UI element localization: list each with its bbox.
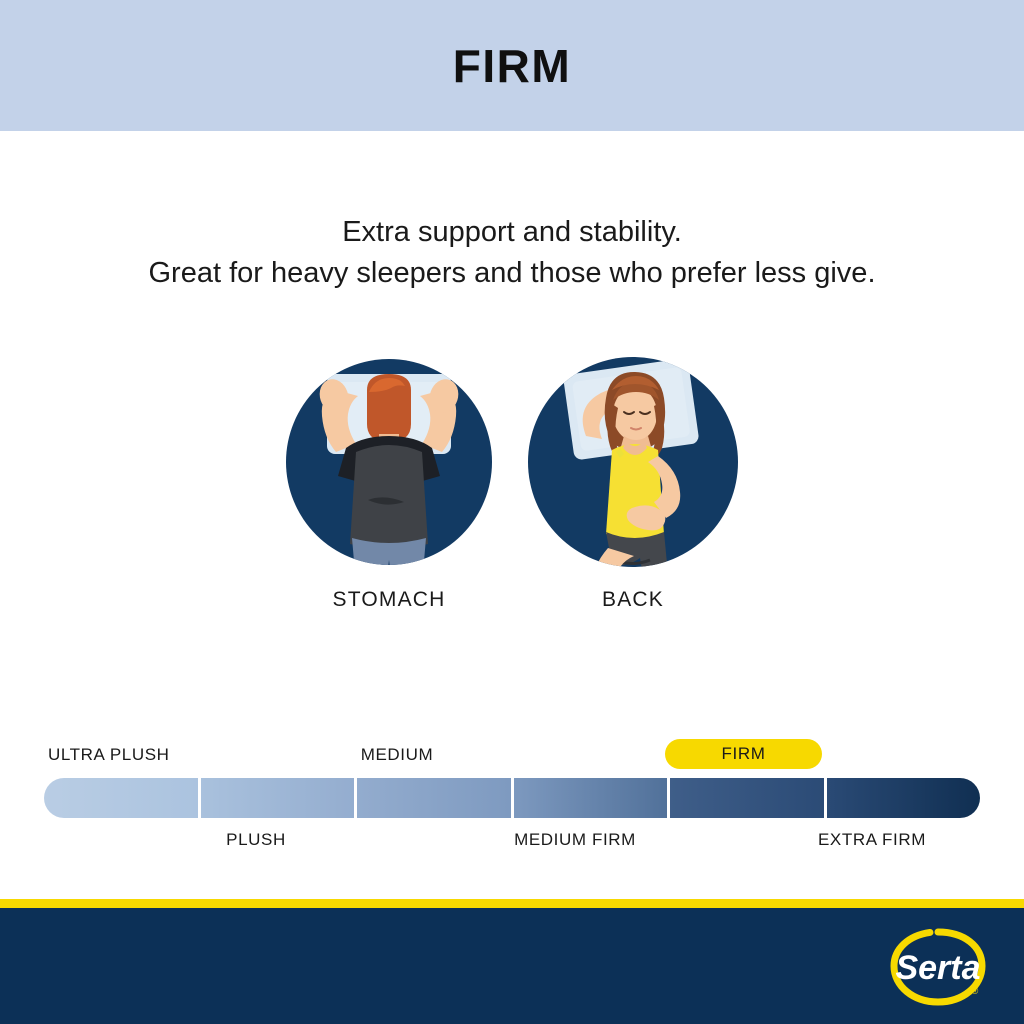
scale-segment-ultra-plush[interactable] [44,778,201,818]
scale-label-extra-firm: EXTRA FIRM [797,830,947,850]
description-line-1: Extra support and stability. [0,212,1024,253]
back-sleeper-icon [528,352,738,582]
scale-label-plush: PLUSH [196,830,316,850]
serta-logo: Serta ® [890,926,986,1008]
scale-label-firm-selected[interactable]: FIRM [665,739,822,769]
scale-segment-plush[interactable] [201,778,358,818]
scale-segment-medium[interactable] [357,778,514,818]
sleep-position-label-stomach: STOMACH [284,588,494,612]
footer-bar: Serta ® [0,908,1024,1024]
stomach-sleeper-icon [284,352,494,582]
sleep-position-label-back: BACK [528,588,738,612]
sleep-position-row: STOMACH [0,352,1024,642]
scale-label-ultra-plush: ULTRA PLUSH [48,745,170,765]
header-banner: FIRM [0,0,1024,131]
scale-label-medium: MEDIUM [337,745,457,765]
sleep-position-back: BACK [528,352,738,582]
description-line-2: Great for heavy sleepers and those who p… [0,253,1024,294]
footer-accent-stripe [0,899,1024,908]
sleep-position-stomach: STOMACH [284,352,494,582]
scale-segment-extra-firm[interactable] [827,778,981,818]
scale-label-medium-firm: MEDIUM FIRM [495,830,655,850]
scale-segment-firm[interactable] [670,778,827,818]
firmness-scale: ULTRA PLUSH PLUSH MEDIUM MEDIUM FIRM FIR… [0,730,1024,860]
description-text: Extra support and stability. Great for h… [0,212,1024,294]
infographic-page: FIRM Extra support and stability. Great … [0,0,1024,1024]
firmness-scale-bar [44,778,980,818]
registered-trademark-mark: ® [972,986,979,996]
serta-wordmark: Serta [895,949,980,987]
scale-segment-medium-firm[interactable] [514,778,671,818]
page-title: FIRM [453,39,571,93]
